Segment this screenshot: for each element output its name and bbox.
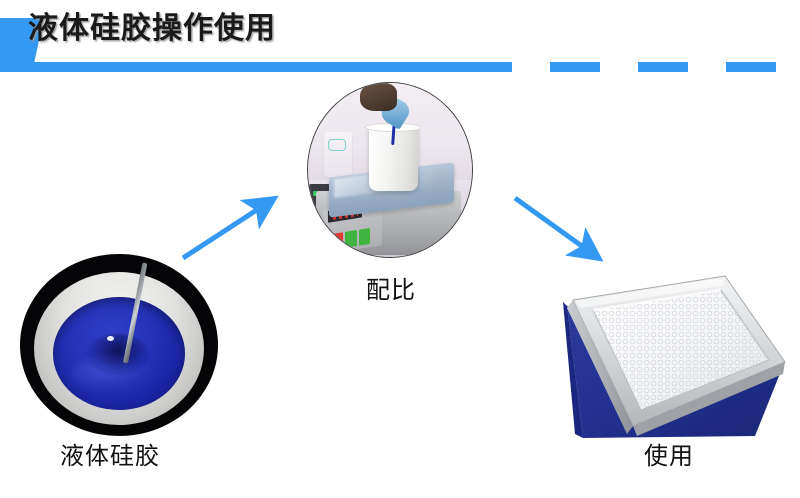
page-header: 液体硅胶操作使用 [0,0,800,72]
header-rule-dashes [462,62,800,72]
caption-ratio: 配比 [366,270,416,305]
diagram-stage: 液体硅胶 配比 使用 [0,72,800,498]
header-dash-segment [462,62,512,72]
header-dash-segment [638,62,688,72]
page-title: 液体硅胶操作使用 [28,6,276,52]
arrow-mix-to-use [515,198,597,257]
slide-page: 液体硅胶操作使用 [0,0,800,498]
header-dash-segment [726,62,776,72]
caption-use: 使用 [644,436,694,471]
header-dash-segment [550,62,600,72]
arrow-silicone-to-mix [183,200,272,258]
header-rule-solid [0,62,462,72]
caption-liquid-silicone: 液体硅胶 [60,436,160,471]
